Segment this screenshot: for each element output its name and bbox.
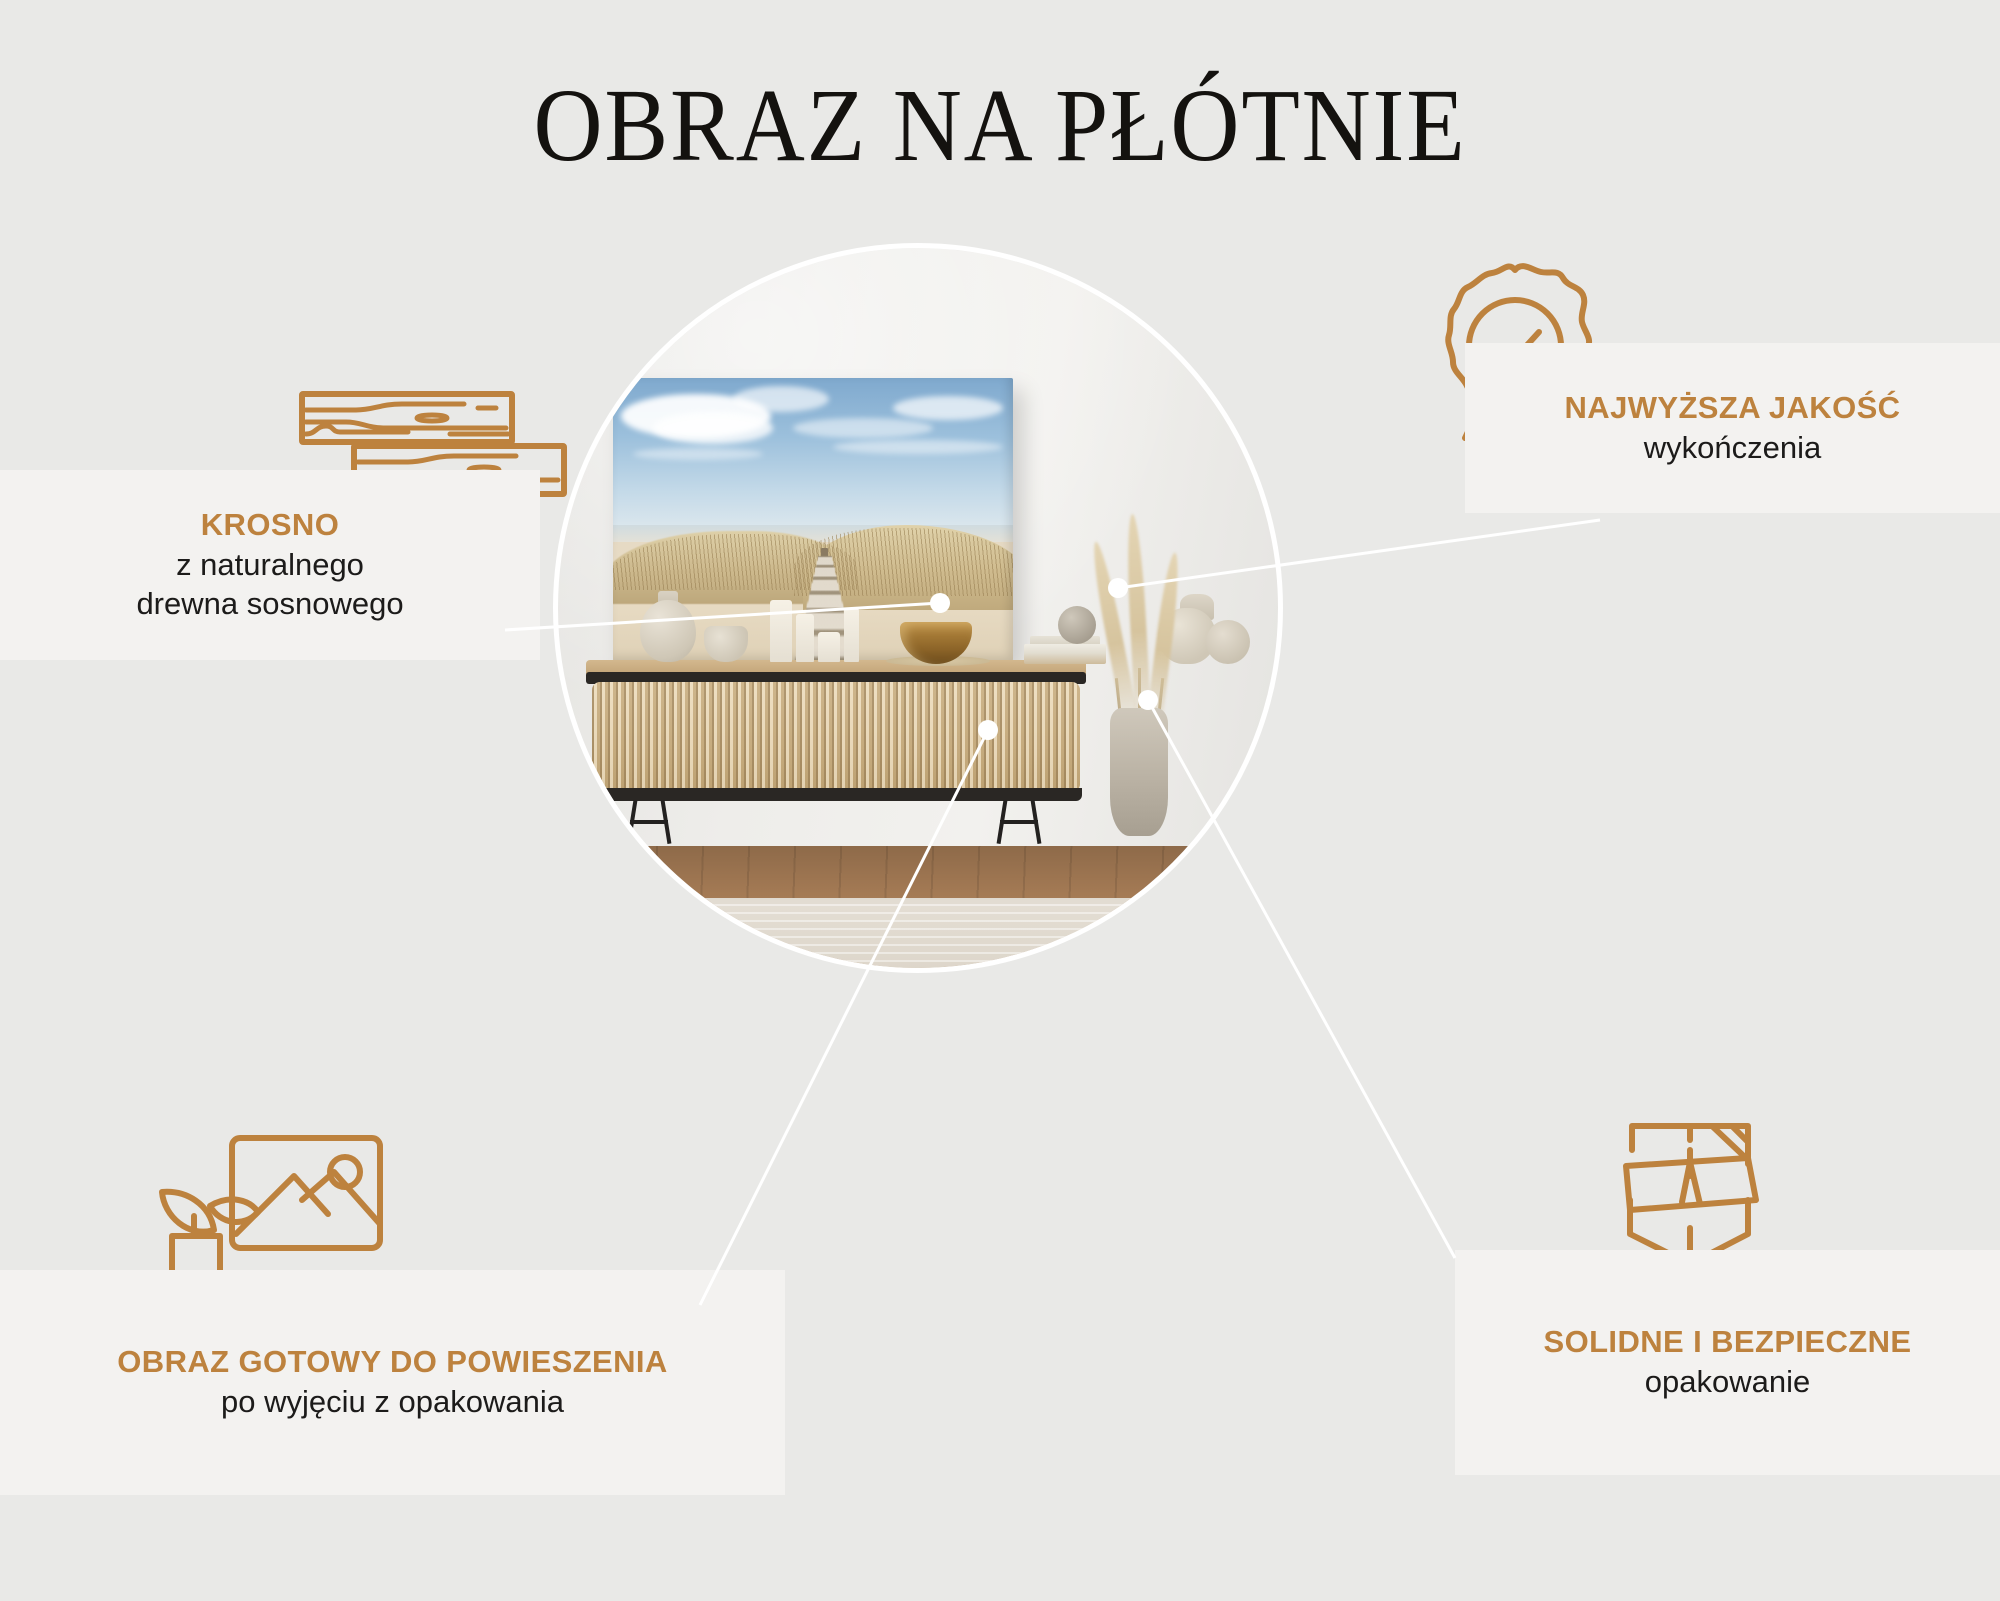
feature-headline: OBRAZ GOTOWY DO POWIESZENIA bbox=[117, 1343, 667, 1382]
fluted-texture bbox=[592, 682, 1080, 792]
feature-subline-1: wykończenia bbox=[1644, 428, 1821, 468]
pillar-candle bbox=[844, 608, 859, 662]
feature-headline: NAJWYŻSZA JAKOŚĆ bbox=[1565, 389, 1901, 428]
pillar-candle bbox=[796, 614, 814, 662]
scene-circle-mask bbox=[558, 248, 1278, 968]
feature-panel-krosno[interactable]: KROSNO z naturalnego drewna sosnowego bbox=[0, 470, 540, 660]
feature-subline-1: po wyjęciu z opakowania bbox=[221, 1382, 564, 1422]
room-illustration bbox=[558, 248, 1278, 968]
woven-basket bbox=[558, 848, 636, 928]
page-title: OBRAZ NA PŁÓTNIE bbox=[80, 72, 1920, 180]
feature-panel-opakowanie[interactable]: SOLIDNE I BEZPIECZNE opakowanie bbox=[1455, 1250, 2000, 1475]
feature-panel-jakosc[interactable]: NAJWYŻSZA JAKOŚĆ wykończenia bbox=[1465, 343, 2000, 513]
area-rug bbox=[558, 898, 1278, 968]
sideboard bbox=[586, 660, 1086, 810]
feature-headline: SOLIDNE I BEZPIECZNE bbox=[1544, 1323, 1912, 1362]
rug-texture bbox=[558, 898, 1278, 968]
infographic-canvas: OBRAZ NA PŁÓTNIE bbox=[0, 0, 2000, 1601]
sideboard-leg-bar bbox=[1000, 820, 1038, 824]
ceramic-pot bbox=[1206, 620, 1250, 664]
ceramic-vase bbox=[640, 600, 696, 662]
sideboard-doors bbox=[592, 682, 1080, 792]
book-stack bbox=[1024, 644, 1106, 664]
floor-vase bbox=[1110, 708, 1168, 836]
sideboard-leg-bar bbox=[630, 820, 668, 824]
feature-subline-1: opakowanie bbox=[1645, 1362, 1810, 1402]
feature-subline-1: z naturalnego bbox=[176, 545, 364, 585]
pillar-candle bbox=[770, 600, 792, 662]
pillar-candle bbox=[818, 632, 840, 662]
product-scene-photo bbox=[558, 248, 1278, 968]
feature-headline: KROSNO bbox=[201, 506, 339, 545]
feature-panel-gotowy[interactable]: OBRAZ GOTOWY DO POWIESZENIA po wyjęciu z… bbox=[0, 1270, 785, 1495]
stone-sphere bbox=[1058, 606, 1096, 644]
feature-subline-2: drewna sosnowego bbox=[136, 584, 403, 624]
